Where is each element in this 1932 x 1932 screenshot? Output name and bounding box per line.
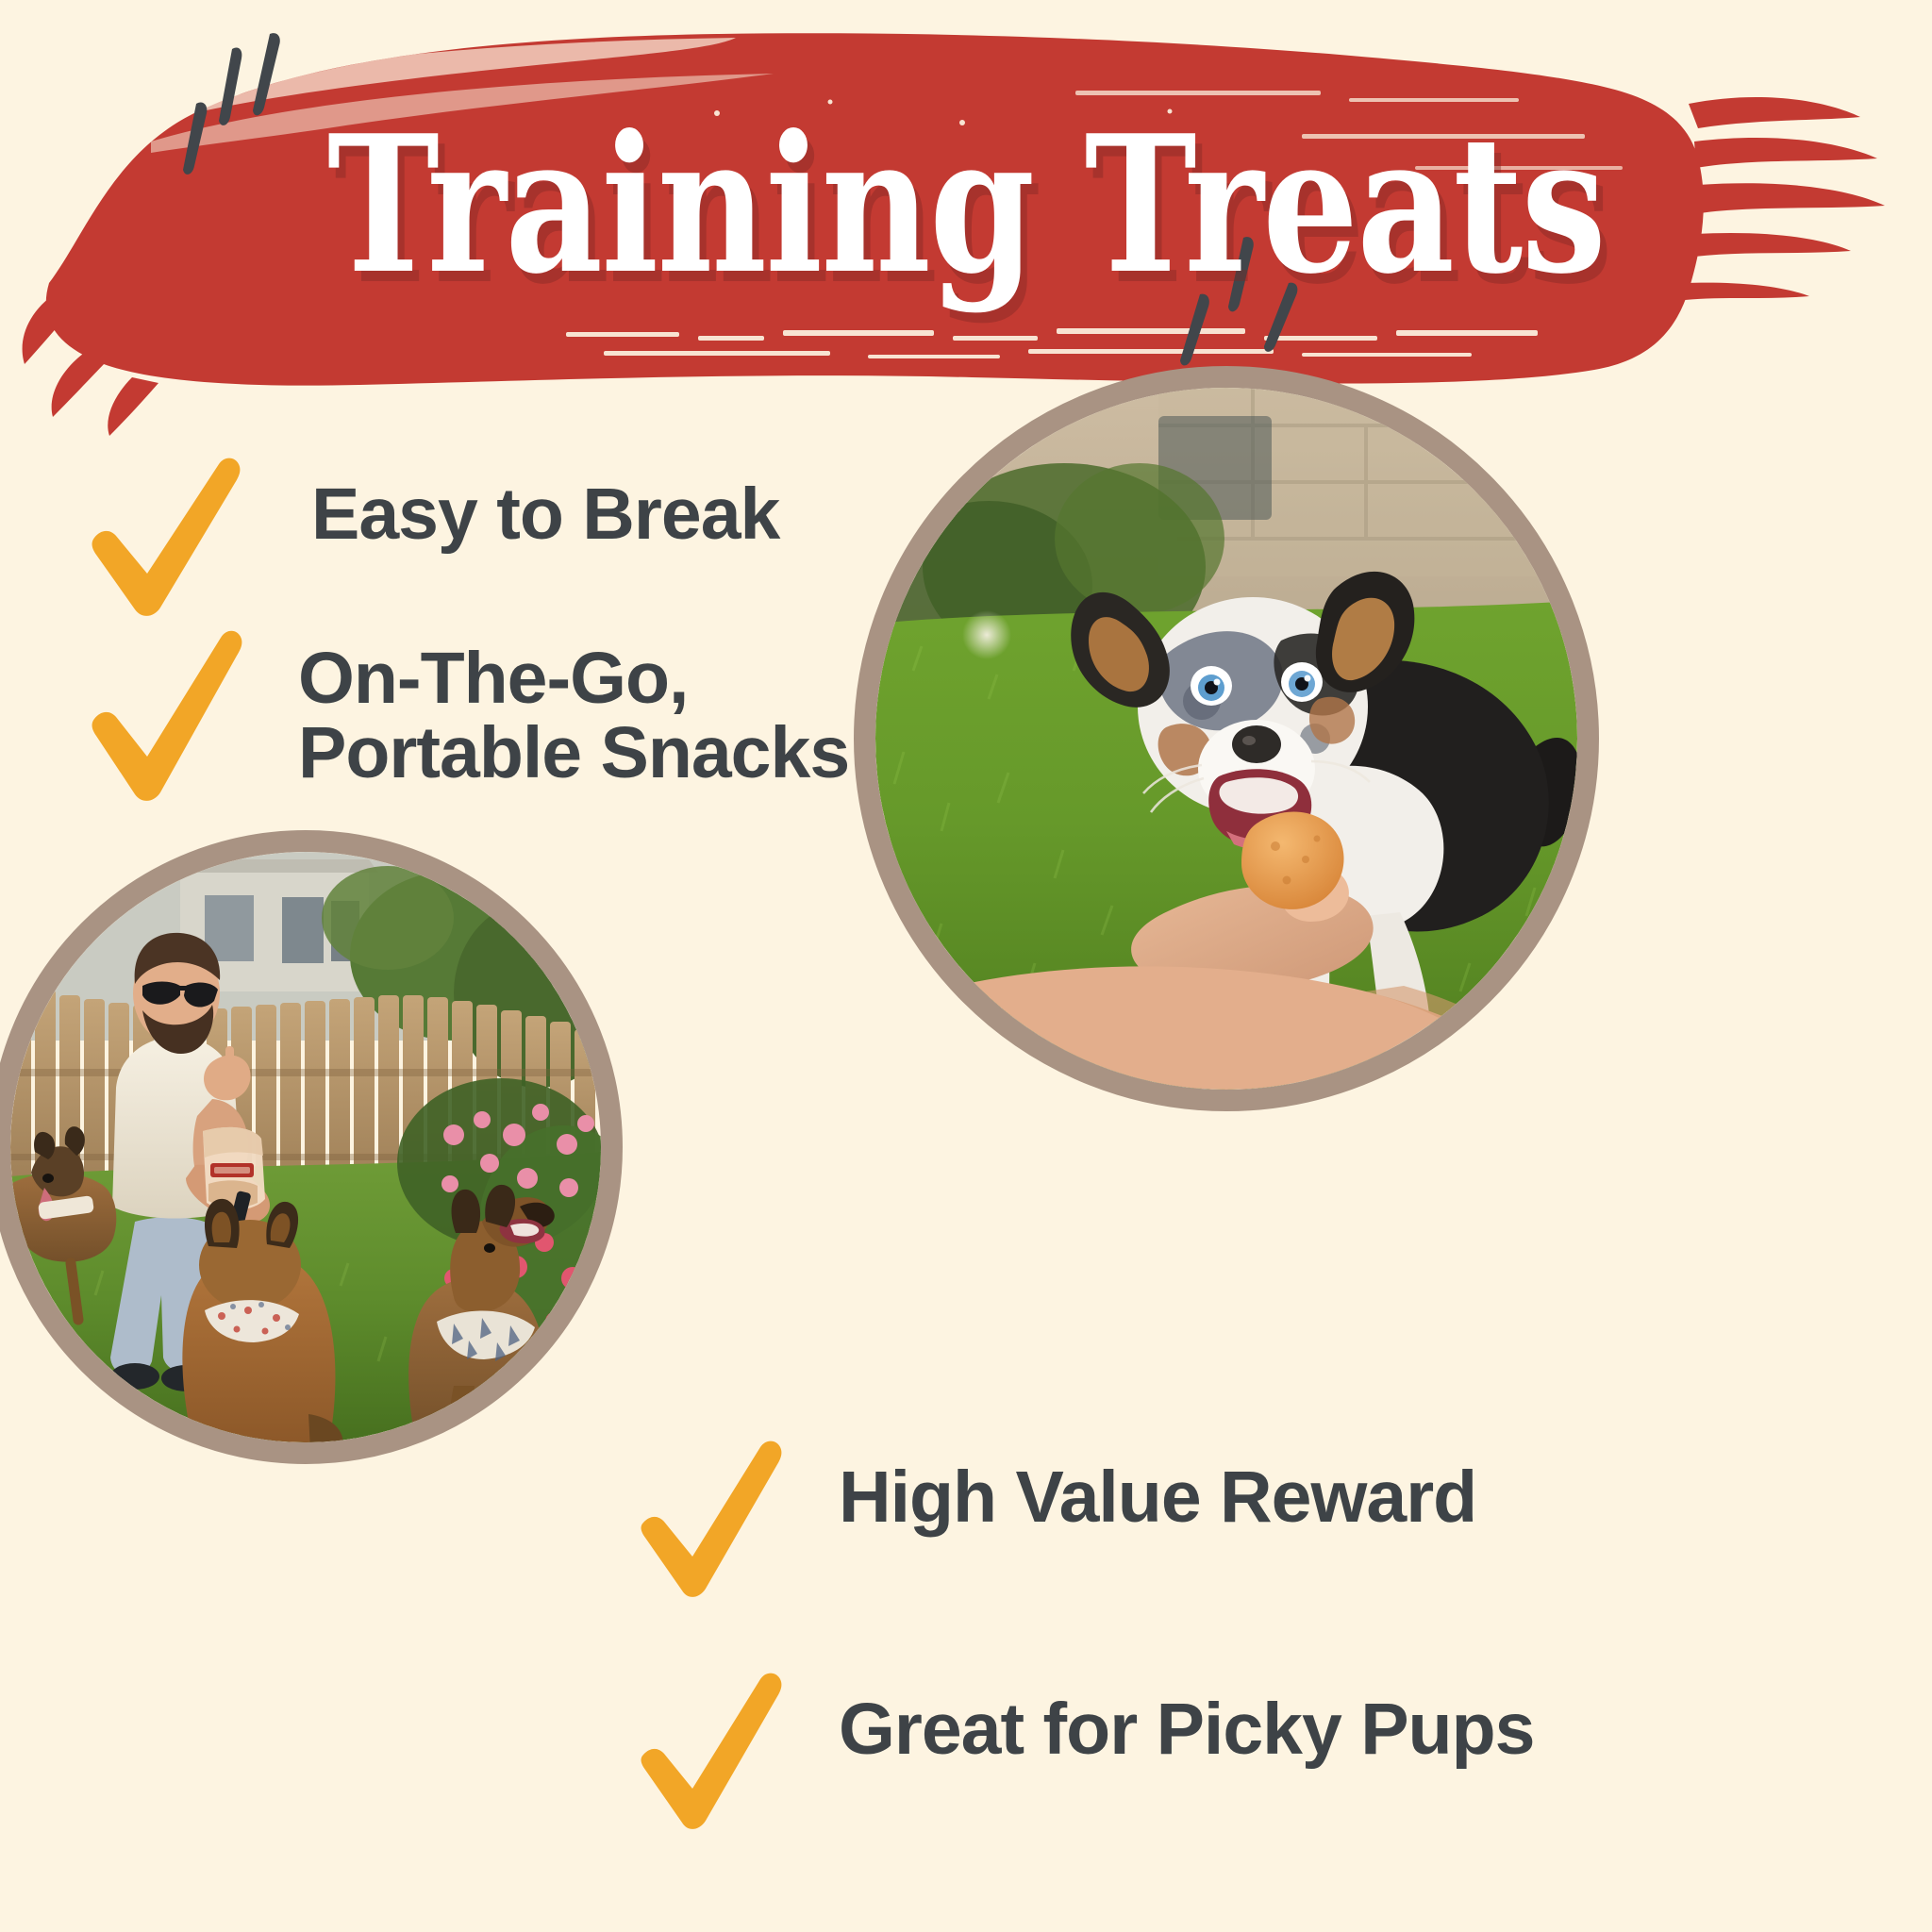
check-icon — [77, 451, 257, 630]
feature-label: On-The-Go, Portable Snacks — [298, 641, 849, 790]
feature-item-easy-to-break: Easy to Break — [77, 451, 779, 630]
header-banner: Training Treats — [0, 0, 1932, 443]
feature-label: Great for Picky Pups — [839, 1692, 1534, 1767]
feature-item-high-value-reward: High Value Reward — [630, 1436, 1476, 1610]
photo-man-training-dogs — [0, 830, 623, 1464]
check-icon — [77, 623, 257, 811]
feature-item-great-for-picky-pups: Great for Picky Pups — [630, 1668, 1534, 1842]
check-icon — [630, 1668, 795, 1842]
photo-dog-catching-treat — [854, 366, 1599, 1111]
page-title: Training Treats — [193, 111, 1739, 300]
feature-item-on-the-go: On-The-Go, Portable Snacks — [77, 623, 849, 811]
feature-label: Easy to Break — [311, 477, 779, 552]
poster-canvas: Training Treats Easy to Break On-The-Go,… — [0, 0, 1932, 1932]
check-icon — [630, 1436, 795, 1610]
feature-label: High Value Reward — [839, 1460, 1476, 1535]
